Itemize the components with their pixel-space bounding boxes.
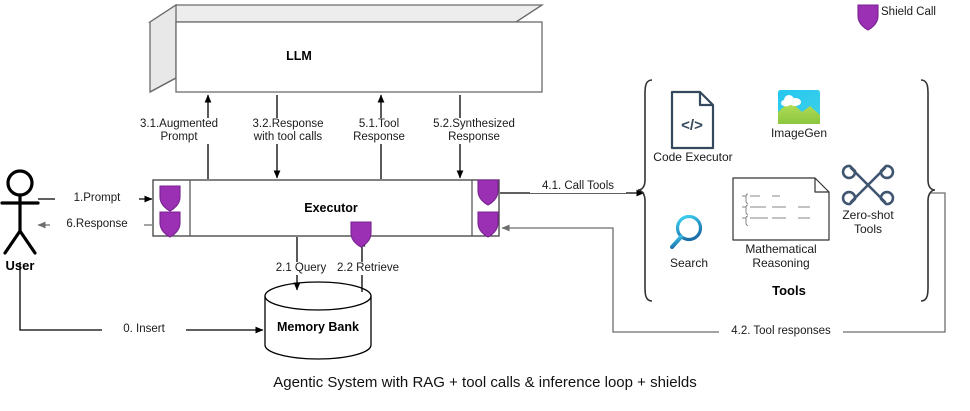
tool-label-imagegen: ImageGen (749, 126, 849, 140)
user-label: User (0, 258, 65, 273)
flow-label-prompt: 1.Prompt (55, 192, 139, 205)
tools-brace-right (921, 80, 935, 301)
shield-icon-executor-memory (351, 222, 371, 247)
flow-label-augmented-prompt: 3.1.Augmented Prompt (135, 118, 223, 144)
code-document-icon: </> (672, 92, 713, 148)
flow-label-retrieve: 2.2 Retrieve (326, 262, 410, 275)
magnifier-icon (672, 217, 701, 248)
memory-bank-label: Memory Bank (248, 320, 388, 334)
flow-label-call-tools: 4.1. Call Tools (530, 180, 626, 193)
svg-text:</>: </> (681, 117, 703, 134)
legend-label: Shield Call (881, 6, 936, 18)
user-stick-figure (2, 171, 38, 253)
tools-group-label: Tools (729, 283, 849, 298)
flow-label-response-tool-calls: 3.2.Response with tool calls (238, 118, 338, 144)
flow-label-synthesized-response: 5.2.Synthesized Response (426, 118, 522, 144)
diagram-canvas: </> (0, 0, 970, 411)
flow-label-tool-response: 5.1.Tool Response (342, 118, 416, 144)
diagram-caption: Agentic System with RAG + tool calls & i… (0, 374, 970, 391)
tool-label-math-reasoning: Mathematical Reasoning (726, 242, 836, 270)
tool-label-search: Search (649, 256, 729, 270)
tool-label-code-executor: Code Executor (638, 150, 748, 164)
diagram-graphics: </> (0, 0, 970, 411)
formula-document-icon (733, 178, 829, 240)
image-icon (778, 90, 820, 124)
llm-label: LLM (239, 49, 359, 63)
flow-label-tool-responses: 4.2. Tool responses (719, 325, 843, 338)
tool-label-zero-shot: Zero-shot Tools (826, 208, 910, 236)
flow-label-insert: 0. Insert (102, 323, 186, 336)
executor-label: Executor (261, 201, 401, 215)
crossed-wrenches-icon (843, 166, 893, 204)
flow-label-response: 6.Response (50, 218, 144, 231)
shield-icon-legend (858, 5, 878, 30)
